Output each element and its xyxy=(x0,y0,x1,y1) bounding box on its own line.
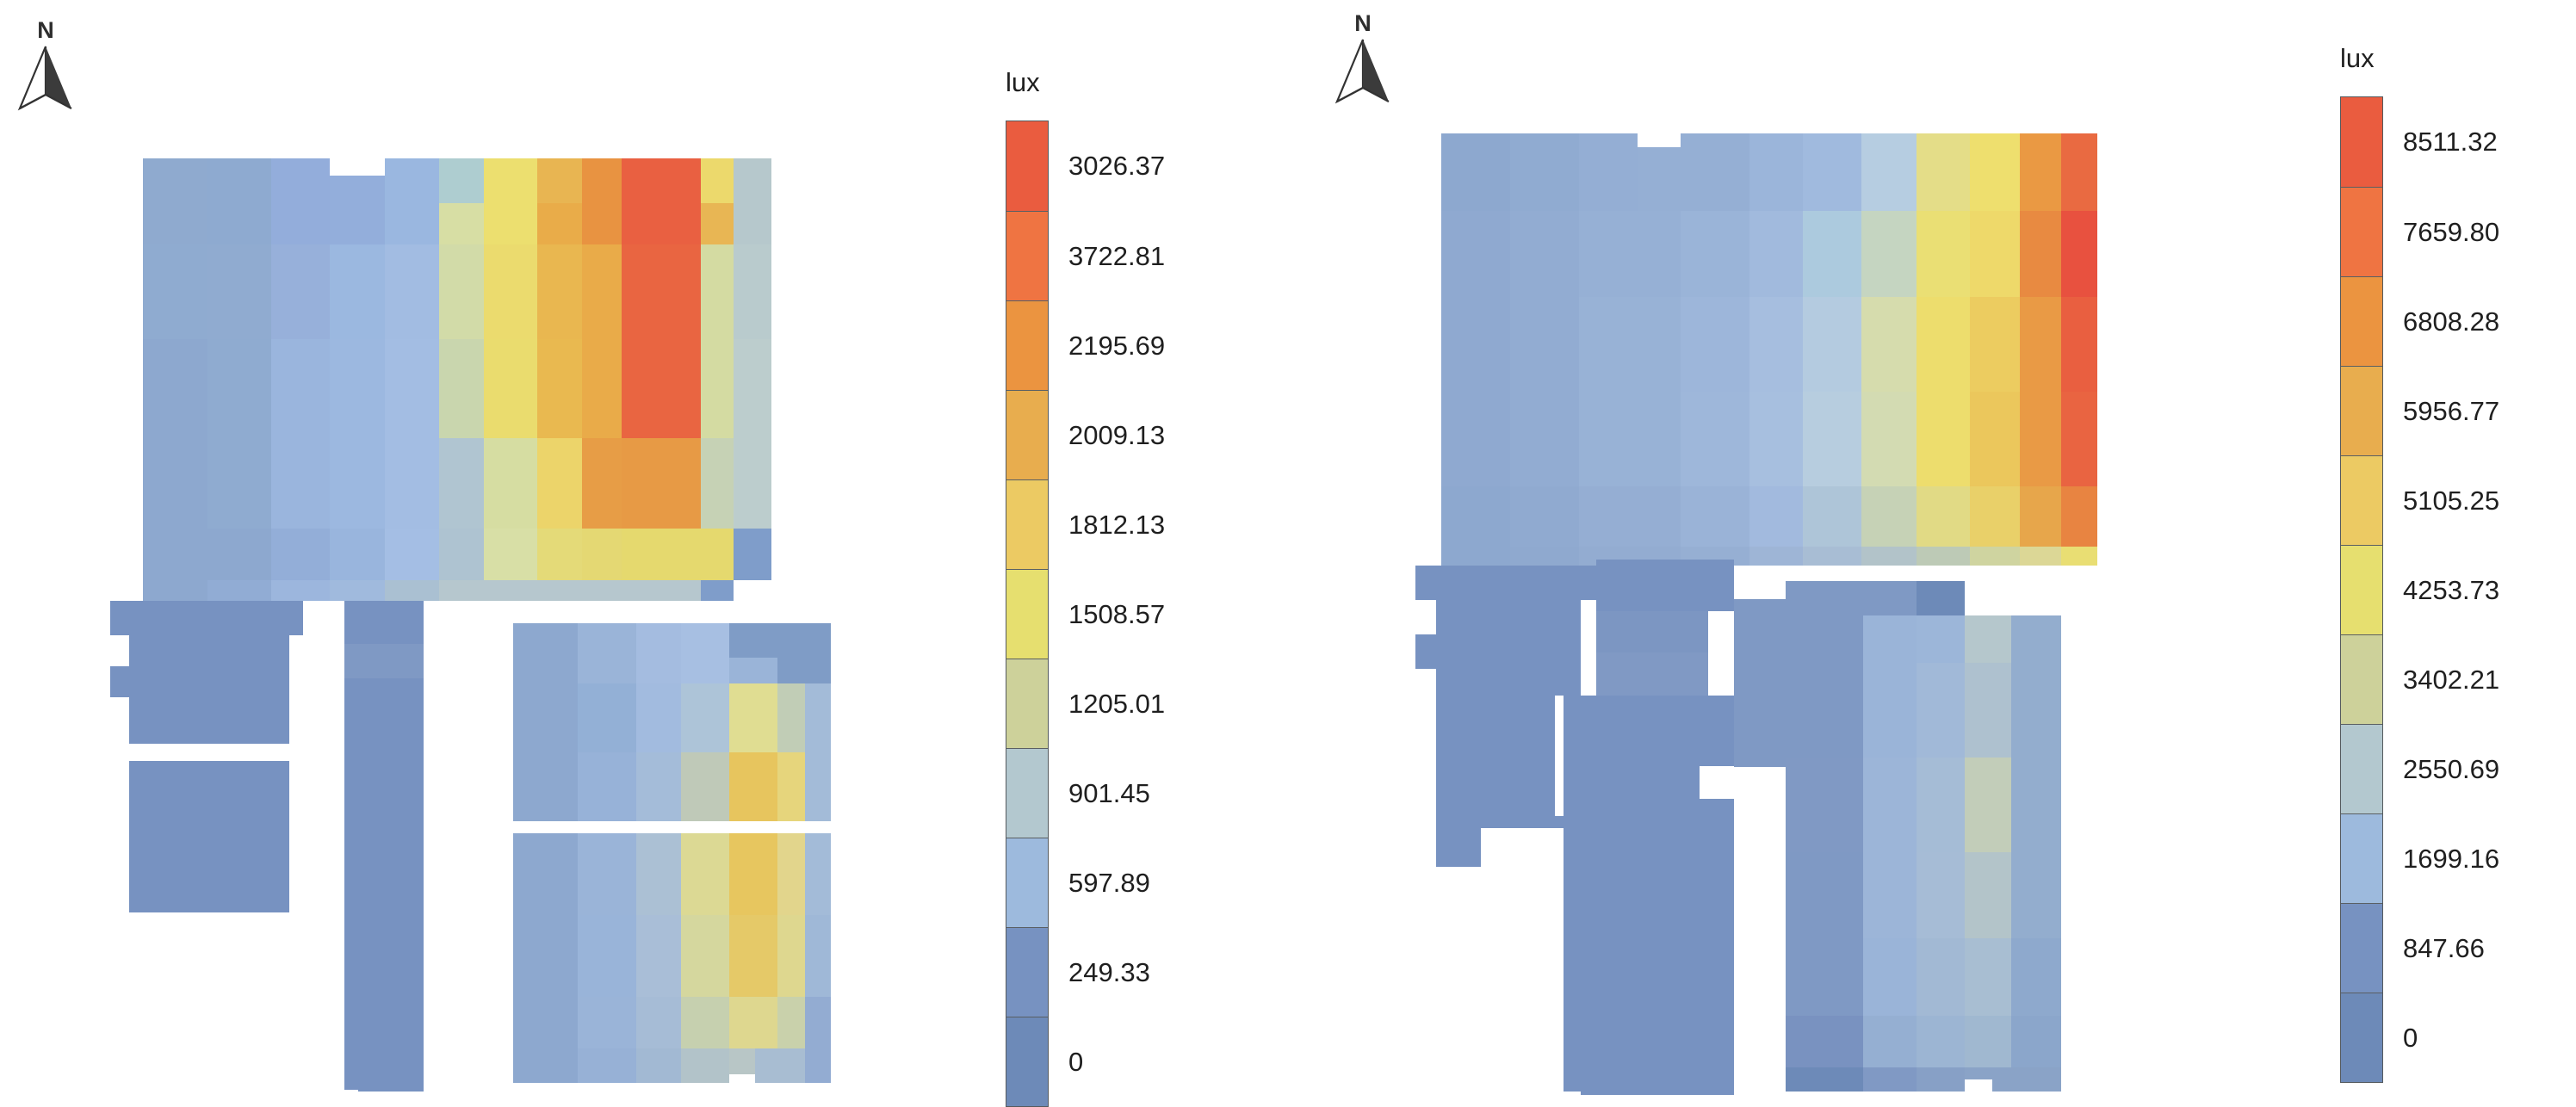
legend-label: 6808.28 xyxy=(2403,306,2499,337)
heat-cell xyxy=(484,529,537,580)
heat-cell xyxy=(1965,938,2011,1016)
heat-cell xyxy=(805,752,831,821)
heat-cell xyxy=(344,678,424,1090)
heat-cell xyxy=(582,244,622,339)
heat-cell xyxy=(1510,392,1579,486)
heat-cell xyxy=(1917,852,1965,938)
heat-cell xyxy=(622,244,701,339)
legend-swatch: 847.66 xyxy=(2341,903,2382,993)
heat-cell xyxy=(1749,211,1803,297)
heat-cell xyxy=(344,601,424,644)
heat-cell xyxy=(1441,133,1510,211)
heat-cell xyxy=(622,339,701,438)
heat-cell xyxy=(1917,758,1965,852)
heat-cell xyxy=(271,339,330,438)
heat-cell xyxy=(1579,486,1681,547)
heat-cell xyxy=(2020,133,2061,211)
heat-cell xyxy=(330,339,385,438)
plan-void xyxy=(729,1074,755,1086)
heat-cell xyxy=(1579,133,1638,211)
heat-cell xyxy=(681,833,729,915)
heat-cell xyxy=(1510,133,1579,211)
heat-cell xyxy=(636,623,681,683)
heat-cell xyxy=(578,752,636,821)
heat-cell xyxy=(385,580,439,601)
legend-label: 5956.77 xyxy=(2403,396,2499,427)
heat-cell xyxy=(207,529,271,580)
plan-void xyxy=(513,821,831,833)
heat-cell xyxy=(2061,486,2097,547)
heat-cell xyxy=(271,580,330,601)
legend-left: lux 3026.37 3722.81 2195.69 2009.13 1812… xyxy=(1006,121,1049,1107)
heat-cell xyxy=(1863,852,1917,938)
legend-swatch: 8511.32 xyxy=(2341,97,2382,187)
heat-cell xyxy=(2020,297,2061,392)
heat-cell xyxy=(578,997,636,1048)
heat-cell xyxy=(484,438,537,529)
heat-cell xyxy=(729,658,777,683)
heat-cell xyxy=(129,761,289,912)
legend-colorbar: 3026.37 3722.81 2195.69 2009.13 1812.13 … xyxy=(1006,121,1049,1107)
legend-swatch: 901.45 xyxy=(1006,748,1048,838)
heat-cell xyxy=(1579,297,1681,392)
legend-title: lux xyxy=(1006,67,1040,98)
legend-label: 4253.73 xyxy=(2403,575,2499,606)
heat-cell xyxy=(271,438,330,529)
heat-cell xyxy=(701,529,734,580)
legend-swatch: 7659.80 xyxy=(2341,187,2382,276)
heat-cell xyxy=(636,683,681,752)
heat-cell xyxy=(1749,547,1803,566)
heat-cell xyxy=(513,623,578,683)
legend-swatch: 249.33 xyxy=(1006,927,1048,1017)
legend-label: 3722.81 xyxy=(1068,241,1165,272)
heat-cell xyxy=(1803,547,1861,566)
heat-cell xyxy=(2020,211,2061,297)
heat-cell xyxy=(1863,1067,1917,1092)
heat-cell xyxy=(681,683,729,752)
heat-cell xyxy=(1441,392,1510,486)
plan-void xyxy=(110,697,129,744)
heat-cell xyxy=(1786,852,1863,938)
heat-cell xyxy=(582,158,622,244)
heat-cell xyxy=(271,529,330,580)
heat-cell xyxy=(2020,392,2061,486)
heat-cell xyxy=(439,339,484,438)
heat-cell xyxy=(1970,133,2020,211)
plan-void xyxy=(1734,767,1786,803)
heat-cell xyxy=(143,158,207,244)
legend-label: 0 xyxy=(1068,1047,1083,1078)
heat-cell xyxy=(1436,712,1481,867)
heat-cell xyxy=(2061,211,2097,297)
heat-cell xyxy=(1749,133,1803,211)
heat-cell xyxy=(484,244,537,339)
legend-label: 3026.37 xyxy=(1068,151,1165,182)
heat-cell xyxy=(1861,486,1917,547)
heat-cell xyxy=(582,529,622,580)
heat-cell xyxy=(330,438,385,529)
heat-cell xyxy=(701,339,734,438)
heat-cell xyxy=(1749,486,1803,547)
legend-label: 597.89 xyxy=(1068,868,1150,899)
heat-cell xyxy=(701,203,734,244)
legend-label: 1699.16 xyxy=(2403,844,2499,875)
heat-cell xyxy=(1965,615,2011,663)
heat-cell xyxy=(734,244,771,339)
heat-cell xyxy=(1861,297,1917,392)
heat-cell xyxy=(1510,211,1579,297)
heat-cell xyxy=(1861,211,1917,297)
heat-cell xyxy=(777,683,805,752)
heat-cell xyxy=(1803,211,1861,297)
heat-cell xyxy=(805,683,831,752)
heat-cell xyxy=(701,158,734,203)
heat-cell xyxy=(1863,615,1917,663)
heat-cell xyxy=(1596,652,1708,696)
heat-cell xyxy=(1863,758,1917,852)
heat-cell xyxy=(1786,758,1863,852)
heat-cell xyxy=(578,623,636,683)
heat-cell xyxy=(1441,211,1510,297)
legend-label: 1508.57 xyxy=(1068,599,1165,630)
heat-cell xyxy=(1863,938,1917,1016)
heat-cell xyxy=(1638,147,1681,211)
heat-cell xyxy=(1992,1067,2061,1092)
plan-void xyxy=(1555,696,1564,816)
legend-swatch: 2195.69 xyxy=(1006,300,1048,390)
heat-cell xyxy=(385,529,439,580)
heat-cell xyxy=(207,339,271,438)
heat-cell xyxy=(330,244,385,339)
heat-cell xyxy=(537,158,582,203)
heat-cell xyxy=(701,438,734,529)
heat-cell xyxy=(513,997,578,1048)
heat-cell xyxy=(1579,211,1681,297)
heat-cell xyxy=(805,1048,831,1083)
heat-cell xyxy=(439,580,537,601)
heat-cell xyxy=(1861,392,1917,486)
plan-void xyxy=(1415,600,1436,634)
heat-cell xyxy=(2011,852,2061,938)
heat-cell xyxy=(358,1074,424,1092)
legend-label: 249.33 xyxy=(1068,957,1150,988)
heat-cell xyxy=(622,438,701,529)
heat-cell xyxy=(271,244,330,339)
legend-colorbar: 8511.32 7659.80 6808.28 5956.77 5105.25 … xyxy=(2340,96,2383,1083)
heat-cell xyxy=(578,683,636,752)
heat-cell xyxy=(1415,566,1526,600)
heat-cell xyxy=(1510,547,1579,566)
heat-cell xyxy=(330,580,385,601)
heat-cell xyxy=(1863,1016,1917,1067)
heat-cell xyxy=(143,529,207,580)
heat-cell xyxy=(143,339,207,438)
heat-cell xyxy=(755,1048,805,1083)
heat-cell xyxy=(439,203,484,244)
heat-cell xyxy=(1786,1016,1863,1067)
heat-cell xyxy=(143,580,207,601)
heat-cell xyxy=(385,339,439,438)
heat-cell xyxy=(1441,297,1510,392)
legend-label: 901.45 xyxy=(1068,778,1150,809)
legend-label: 7659.80 xyxy=(2403,217,2499,248)
heat-cell xyxy=(537,244,582,339)
legend-title: lux xyxy=(2340,43,2375,74)
heat-cell xyxy=(513,915,578,997)
heat-cell xyxy=(1786,663,1863,758)
heat-cell xyxy=(1749,392,1803,486)
heat-cell xyxy=(1917,297,1970,392)
heat-cell xyxy=(1970,486,2020,547)
heat-cell xyxy=(1596,560,1674,611)
legend-swatch: 597.89 xyxy=(1006,838,1048,927)
heat-cell xyxy=(777,915,805,997)
heat-cell xyxy=(537,580,701,601)
heat-cell xyxy=(129,635,289,744)
heat-cell xyxy=(1917,133,1970,211)
legend-swatch: 2009.13 xyxy=(1006,390,1048,479)
plan-void xyxy=(1965,1079,1992,1092)
heat-cell xyxy=(207,158,271,244)
heat-cell xyxy=(729,997,777,1048)
legend-label: 847.66 xyxy=(2403,933,2485,964)
heat-cell xyxy=(1734,599,1786,767)
heat-cell xyxy=(1970,211,2020,297)
heat-cell xyxy=(805,915,831,997)
heat-cell xyxy=(385,438,439,529)
legend-swatch: 5105.25 xyxy=(2341,455,2382,545)
heat-cell xyxy=(1803,297,1861,392)
heat-cell xyxy=(1564,816,1734,1092)
heat-cell xyxy=(2011,758,2061,852)
heat-cell xyxy=(1681,392,1749,486)
legend-swatch: 3722.81 xyxy=(1006,211,1048,300)
heat-cell xyxy=(1917,581,1965,615)
heat-cell xyxy=(110,601,220,635)
legend-swatch: 1699.16 xyxy=(2341,813,2382,903)
heat-cell xyxy=(330,176,385,244)
heat-cell xyxy=(484,158,537,244)
heat-cell xyxy=(1863,581,1917,615)
heat-cell xyxy=(681,997,729,1048)
heat-cell xyxy=(1786,581,1863,663)
heat-cell xyxy=(729,752,777,821)
heat-cell xyxy=(330,529,385,580)
heat-cell xyxy=(2061,297,2097,392)
heat-cell xyxy=(1749,297,1803,392)
heat-cell xyxy=(734,438,771,529)
heat-cell xyxy=(385,158,439,244)
heat-cell xyxy=(1786,1067,1863,1092)
legend-label: 1205.01 xyxy=(1068,689,1165,720)
heat-cell xyxy=(1861,133,1917,211)
heat-cell xyxy=(439,529,484,580)
heat-cell xyxy=(681,1048,729,1083)
heat-cell xyxy=(2061,133,2097,211)
heat-cell xyxy=(439,244,484,339)
legend-swatch: 1508.57 xyxy=(1006,569,1048,659)
heat-cell xyxy=(1803,486,1861,547)
heat-cell xyxy=(271,158,330,244)
legend-label: 2550.69 xyxy=(2403,754,2499,785)
heat-cell xyxy=(1596,611,1708,652)
heat-cell xyxy=(207,438,271,529)
heat-cell xyxy=(1579,392,1681,486)
heat-cell xyxy=(1526,566,1600,600)
legend-swatch: 2550.69 xyxy=(2341,724,2382,813)
heat-cell xyxy=(537,438,582,529)
heat-cell xyxy=(1861,547,1917,566)
legend-swatch: 1812.13 xyxy=(1006,479,1048,569)
heat-cell xyxy=(1681,211,1749,297)
heat-cell xyxy=(1917,663,1965,758)
heat-cell xyxy=(1786,938,1863,1016)
heat-cell xyxy=(1681,133,1749,211)
heat-cell xyxy=(805,833,831,915)
left-map-panel: N xyxy=(0,0,1288,1105)
legend-label: 8511.32 xyxy=(2403,127,2498,158)
legend-swatch: 0 xyxy=(2341,993,2382,1082)
heat-cell xyxy=(207,580,271,601)
heat-cell xyxy=(636,833,681,915)
heat-cell xyxy=(537,203,582,244)
heat-cell xyxy=(636,915,681,997)
heat-cell xyxy=(1965,758,2011,852)
heat-cell xyxy=(1510,297,1579,392)
heat-cell xyxy=(622,158,663,244)
legend-label: 2195.69 xyxy=(1068,331,1165,362)
heat-cell xyxy=(729,915,777,997)
legend-swatch: 3026.37 xyxy=(1006,121,1048,211)
plan-void xyxy=(1415,669,1436,712)
legend-label: 0 xyxy=(2403,1023,2418,1054)
heat-cell xyxy=(513,833,578,915)
heat-cell xyxy=(663,158,701,244)
heat-cell xyxy=(2011,663,2061,758)
heat-cell xyxy=(1803,392,1861,486)
heat-cell xyxy=(1581,1083,1734,1095)
heat-cell xyxy=(1441,547,1510,566)
heat-cell xyxy=(484,339,537,438)
heat-cell xyxy=(537,529,582,580)
heat-cell xyxy=(729,683,777,752)
heat-cell xyxy=(207,244,271,339)
heat-cell xyxy=(1681,486,1749,547)
heat-cell xyxy=(1965,852,2011,938)
heat-cell xyxy=(143,244,207,339)
legend-label: 2009.13 xyxy=(1068,420,1165,451)
heat-cell xyxy=(777,752,805,821)
heat-cell xyxy=(143,438,207,529)
heat-cell xyxy=(582,438,622,529)
legend-label: 5105.25 xyxy=(2403,485,2499,516)
heat-cell xyxy=(777,833,805,915)
heat-cell xyxy=(582,339,622,438)
heat-cell xyxy=(622,529,701,580)
heat-cell xyxy=(110,666,129,697)
heat-cell xyxy=(578,833,636,915)
heat-cell xyxy=(1415,634,1436,669)
heat-cell xyxy=(513,683,578,752)
heat-cell xyxy=(1965,1016,2011,1067)
heat-cell xyxy=(1917,1016,1965,1067)
heat-cell xyxy=(1917,486,1970,547)
heat-cell xyxy=(513,1048,578,1083)
heat-cell xyxy=(636,752,681,821)
heat-cell xyxy=(734,339,771,438)
heat-cell xyxy=(2061,392,2097,486)
heat-cell xyxy=(1970,547,2020,566)
heat-cell xyxy=(2020,486,2061,547)
right-map-panel: N xyxy=(1288,0,2576,1105)
heat-cell xyxy=(701,244,734,339)
plan-void xyxy=(330,158,385,176)
heat-cell xyxy=(729,833,777,915)
heat-cell xyxy=(734,529,771,580)
heat-cell xyxy=(805,997,831,1048)
heat-cell xyxy=(439,158,484,203)
legend-right: lux 8511.32 7659.80 6808.28 5956.77 5105… xyxy=(2340,96,2383,1083)
heat-cell xyxy=(1803,133,1861,211)
legend-swatch: 3402.21 xyxy=(2341,634,2382,724)
heat-cell xyxy=(439,438,484,529)
legend-swatch: 0 xyxy=(1006,1017,1048,1106)
heat-cell xyxy=(1681,297,1749,392)
heat-cell xyxy=(636,997,681,1048)
heat-cell xyxy=(578,915,636,997)
heat-cell xyxy=(513,752,578,821)
heat-cell xyxy=(2011,615,2061,663)
heat-cell xyxy=(777,623,831,683)
heat-cell xyxy=(1674,560,1734,611)
heat-cell xyxy=(1441,486,1510,547)
legend-swatch: 4253.73 xyxy=(2341,545,2382,634)
heat-cell xyxy=(1917,615,1965,663)
heat-cell xyxy=(344,644,424,678)
legend-swatch: 5956.77 xyxy=(2341,366,2382,455)
heat-cell xyxy=(385,244,439,339)
heat-cell xyxy=(578,1048,636,1083)
heat-cell xyxy=(1917,211,1970,297)
heat-cell xyxy=(777,997,805,1048)
heat-cell xyxy=(636,1048,681,1083)
heat-cell xyxy=(1510,486,1579,547)
heat-cell xyxy=(681,623,729,683)
plan-void xyxy=(1965,581,2011,615)
heat-cell xyxy=(2011,1016,2061,1067)
heat-cell xyxy=(734,158,771,244)
legend-label: 1812.13 xyxy=(1068,510,1165,541)
legend-label: 3402.21 xyxy=(2403,665,2499,696)
heat-cell xyxy=(1970,297,2020,392)
heat-cell xyxy=(2020,547,2061,566)
plan-void xyxy=(110,635,129,666)
heat-cell xyxy=(2061,547,2097,566)
heat-cell xyxy=(1970,392,2020,486)
heat-cell xyxy=(220,601,303,635)
plan-void xyxy=(1638,133,1681,147)
legend-swatch: 1205.01 xyxy=(1006,659,1048,748)
heat-cell xyxy=(1917,938,1965,1016)
heat-cell xyxy=(537,339,582,438)
legend-swatch: 6808.28 xyxy=(2341,276,2382,366)
heat-cell xyxy=(2011,938,2061,1016)
heat-cell xyxy=(729,623,777,658)
heat-cell xyxy=(681,752,729,821)
heat-cell xyxy=(1917,392,1970,486)
heat-cell xyxy=(1917,1067,1965,1092)
